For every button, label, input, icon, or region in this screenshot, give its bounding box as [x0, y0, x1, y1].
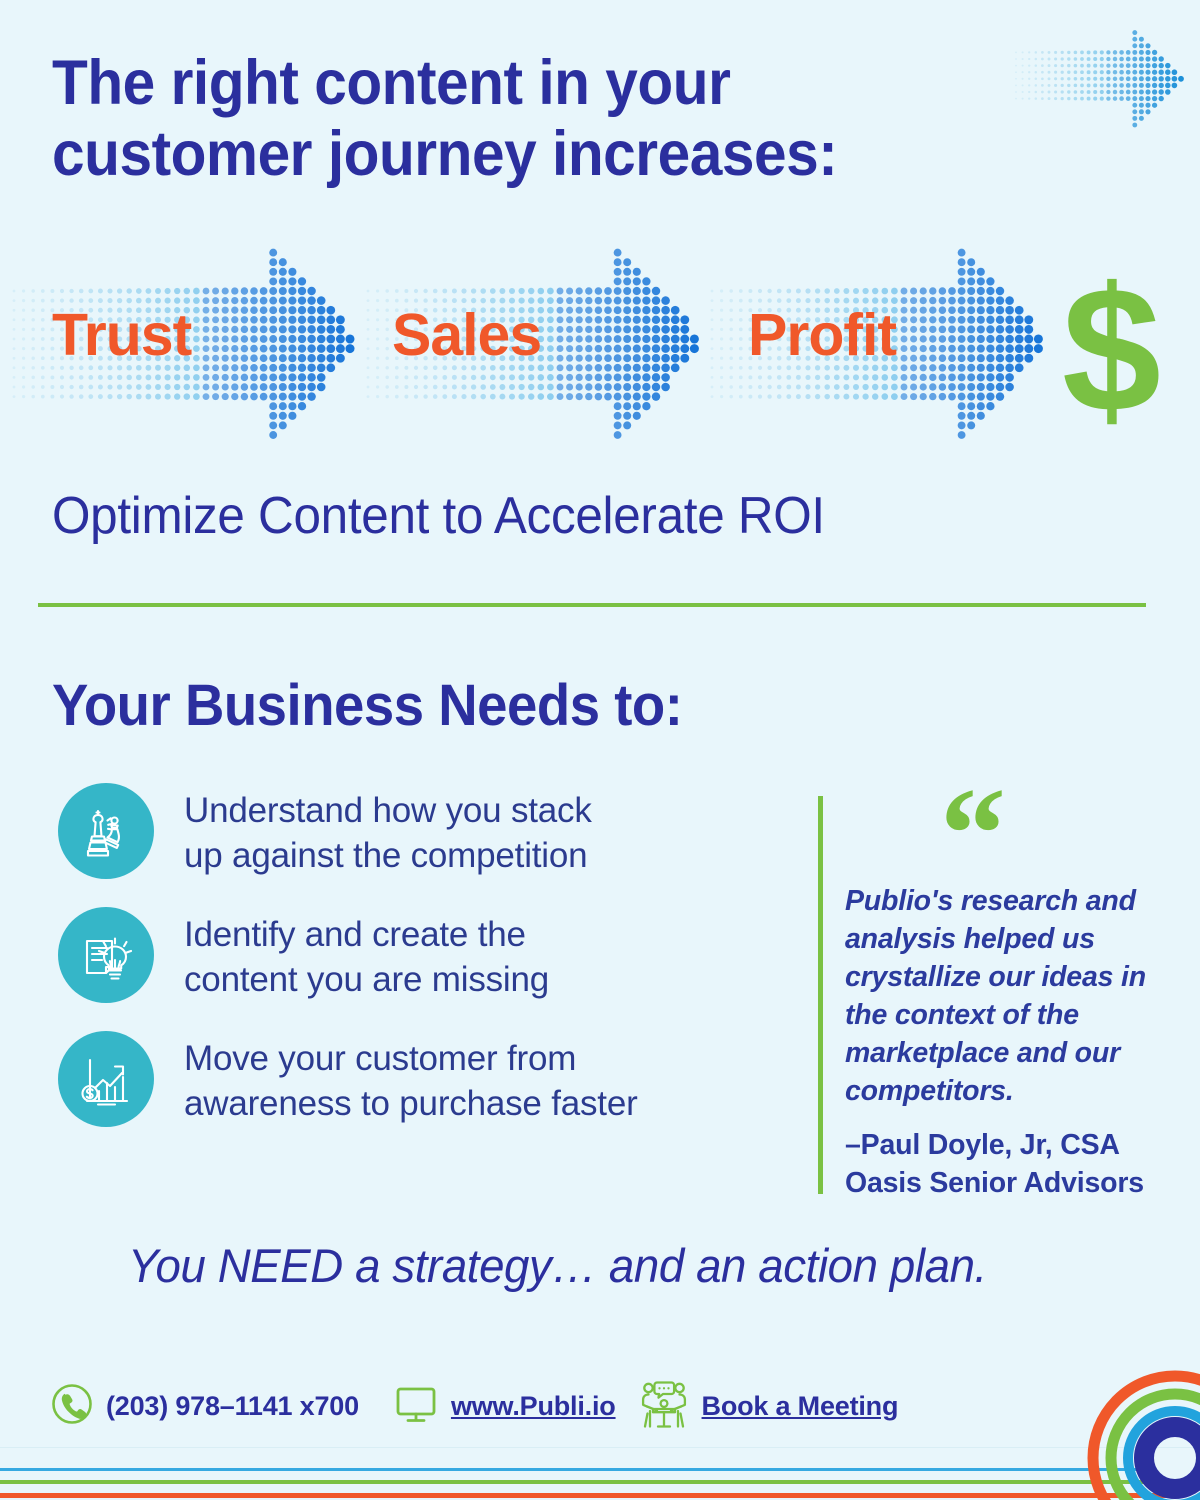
phone-in-circle-icon — [50, 1382, 94, 1431]
quote-text: Publio's research and analysis helped us… — [845, 882, 1175, 1110]
subheading: Optimize Content to Accelerate ROI — [52, 486, 825, 546]
halftone-arrow-icon — [1010, 18, 1190, 138]
bullet-2-line-1: Identify and create the — [184, 915, 526, 954]
footer-website-link[interactable]: www.Publi.io — [451, 1391, 616, 1422]
chess-pieces-icon — [58, 783, 154, 879]
list-item: Move your customer from awareness to pur… — [58, 1031, 788, 1127]
list-item-text: Understand how you stack up against the … — [184, 783, 592, 879]
footer-hairline — [0, 1447, 1200, 1448]
infographic-canvas: The right content in your customer journ… — [0, 0, 1200, 1500]
section-divider — [38, 603, 1146, 607]
footer-phone-number[interactable]: (203) 978–1141 x700 — [106, 1391, 359, 1422]
headline-line-1: The right content in your — [52, 48, 730, 118]
bullet-2-line-2: content you are missing — [184, 960, 549, 999]
footer-contact-bar: (203) 978–1141 x700 www.Publi.io — [50, 1378, 898, 1435]
bullet-3-line-2: awareness to purchase faster — [184, 1084, 638, 1123]
list-item: Identify and create the content you are … — [58, 907, 788, 1003]
bullet-3-line-1: Move your customer from — [184, 1039, 576, 1078]
footer-phone[interactable]: (203) 978–1141 x700 — [50, 1382, 359, 1431]
bullet-1-line-2: up against the competition — [184, 836, 587, 875]
people-meeting-icon — [638, 1378, 690, 1435]
bottom-rule-orange — [0, 1493, 1178, 1498]
dollar-sign-icon: $ — [1062, 261, 1161, 439]
footer-website[interactable]: www.Publi.io — [393, 1382, 616, 1431]
quote-company: Oasis Senior Advisors — [845, 1167, 1144, 1199]
quote-mark-icon: “ — [940, 768, 1000, 900]
arrow-band: Trust Sales Profit $ — [0, 243, 1200, 443]
concentric-rings-logo-icon — [1030, 1330, 1200, 1500]
bullet-1-line-1: Understand how you stack — [184, 791, 592, 830]
bottom-rule-green — [0, 1480, 1160, 1484]
footer-meeting[interactable]: Book a Meeting — [638, 1378, 899, 1435]
benefits-list: Understand how you stack up against the … — [58, 783, 788, 1155]
band-word-profit: Profit — [748, 306, 896, 365]
section-title: Your Business Needs to: — [52, 672, 682, 739]
band-word-sales: Sales — [392, 306, 541, 365]
document-lightbulb-icon — [58, 907, 154, 1003]
growth-chart-dollar-icon — [58, 1031, 154, 1127]
headline-line-2: customer journey increases: — [52, 119, 945, 190]
footer-meeting-link[interactable]: Book a Meeting — [702, 1391, 899, 1422]
tagline: You NEED a strategy… and an action plan. — [128, 1238, 987, 1293]
list-item: Understand how you stack up against the … — [58, 783, 788, 879]
quote-accent-bar — [818, 796, 823, 1194]
bottom-rule-blue — [0, 1468, 1145, 1471]
quote-attribution: –Paul Doyle, Jr, CSA Oasis Senior Adviso… — [845, 1126, 1185, 1202]
page-title: The right content in your customer journ… — [52, 48, 945, 190]
quote-author: –Paul Doyle, Jr, CSA — [845, 1129, 1120, 1161]
band-word-trust: Trust — [52, 306, 191, 365]
monitor-icon — [393, 1382, 439, 1431]
list-item-text: Identify and create the content you are … — [184, 907, 549, 1003]
list-item-text: Move your customer from awareness to pur… — [184, 1031, 638, 1127]
